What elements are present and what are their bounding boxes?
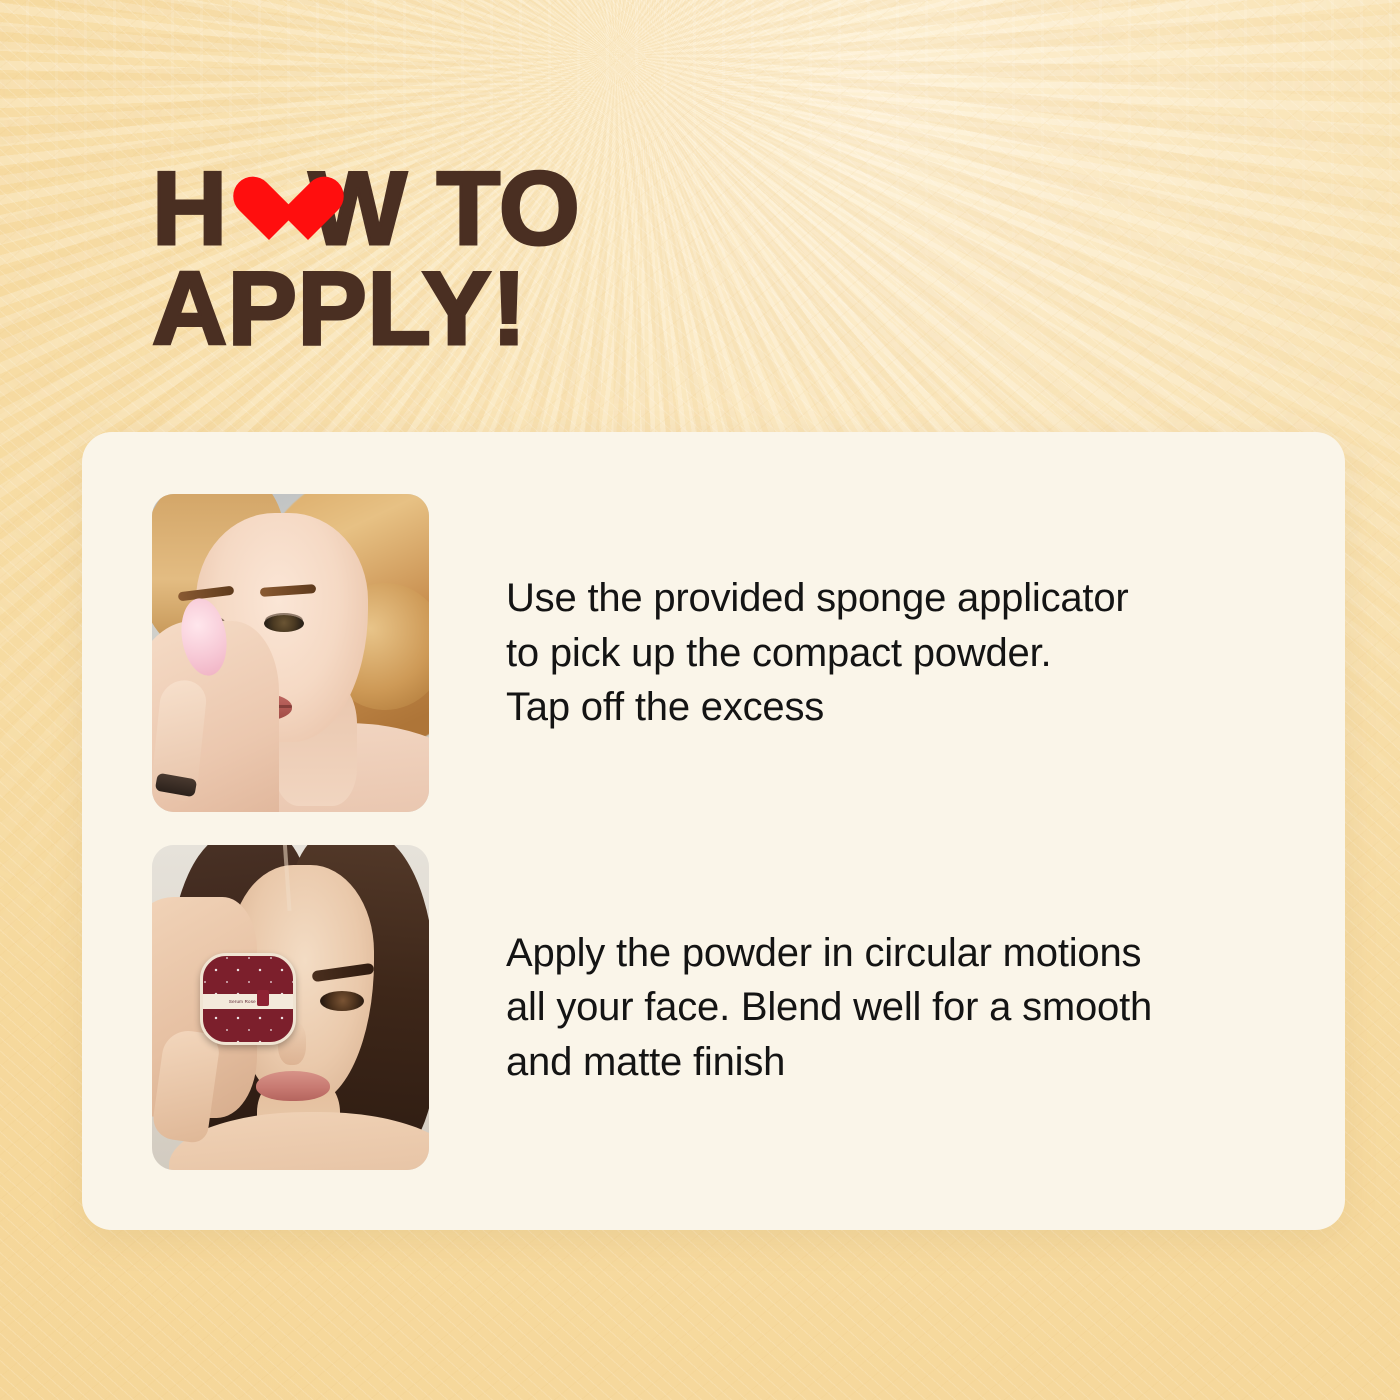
page-title: HW TO APPLY! bbox=[152, 160, 912, 360]
heart-icon bbox=[230, 178, 308, 250]
photo2-eye bbox=[320, 991, 364, 1011]
page-title-line-1-before-heart: H bbox=[152, 151, 228, 267]
photo2-lips bbox=[256, 1071, 330, 1101]
photo1-eye-right bbox=[264, 615, 304, 632]
step-row-1: Use the provided sponge applicator to pi… bbox=[152, 494, 1129, 812]
step-row-2: Serum Rose FILL Apply the powder in circ… bbox=[152, 845, 1152, 1170]
page-title-line-1-after-heart: W TO bbox=[309, 151, 581, 267]
page-title-line-1: HW TO bbox=[152, 160, 912, 260]
step-1-text: Use the provided sponge applicator to pi… bbox=[506, 571, 1129, 734]
compact-label-band: Serum Rose FILL bbox=[200, 994, 296, 1009]
instructions-card: Use the provided sponge applicator to pi… bbox=[82, 432, 1345, 1230]
poster-canvas: HW TO APPLY! bbox=[0, 0, 1400, 1400]
sponge-applicator-photo bbox=[152, 494, 429, 812]
compact-brand-logo-icon bbox=[257, 990, 269, 1006]
compact-powder-photo: Serum Rose FILL bbox=[152, 845, 429, 1170]
compact-powder-product: Serum Rose FILL bbox=[200, 953, 296, 1045]
step-2-text: Apply the powder in circular motions all… bbox=[506, 926, 1152, 1089]
page-title-line-2: APPLY! bbox=[152, 260, 912, 360]
